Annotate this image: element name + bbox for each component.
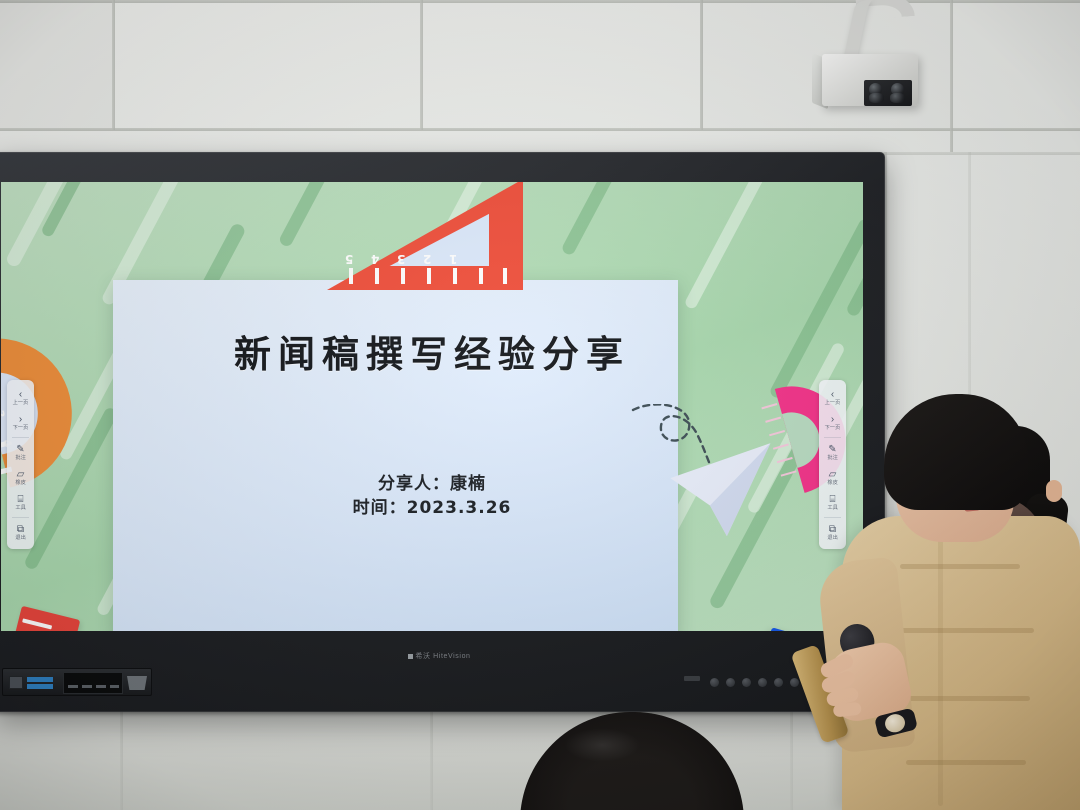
usb3-port-icon	[27, 684, 53, 689]
ops-slot	[63, 672, 123, 694]
io-port-panel[interactable]	[2, 668, 152, 696]
slide-date-line: 时间：2023.3.26	[1, 493, 863, 518]
usb-port-icon	[9, 676, 23, 689]
panel-seam	[950, 0, 953, 152]
sidebar-label: 上一页	[13, 400, 29, 407]
eraser-icon: ▱	[14, 469, 27, 480]
presentation-slide: 1 2 3 4 1 2 3 4	[1, 182, 863, 631]
sidebar-label: 工具	[15, 505, 25, 512]
usb3-port-icon	[27, 677, 53, 682]
camera-body	[822, 54, 918, 106]
sidebar-divider	[12, 517, 29, 518]
hair-top	[884, 394, 1028, 510]
orange-triangle-ruler-graphic: 5 4 3 2 1	[323, 182, 523, 290]
exit-icon: ⧉	[14, 524, 27, 535]
sidebar-label: 退出	[15, 535, 25, 542]
sidebar-item-prev-page[interactable]: ‹ 上一页	[7, 385, 34, 410]
sidebar-label: 橡皮	[15, 480, 25, 487]
ceiling-panel	[0, 0, 112, 128]
ceiling-camera-device	[812, 44, 918, 106]
camera-lens-icon	[890, 93, 905, 103]
sidebar-label: 下一页	[13, 425, 29, 432]
source-button[interactable]	[758, 678, 767, 687]
panel-seam	[420, 0, 423, 130]
wall-seam	[790, 712, 793, 810]
sidebar-label: 批注	[15, 455, 25, 462]
camera-lens-plate	[864, 80, 912, 106]
watch-face	[883, 712, 907, 734]
interactive-flat-panel[interactable]: 1 2 3 4 1 2 3 4	[0, 152, 885, 712]
blue-ruler-graphic: 1 2 3 7 8	[708, 627, 822, 631]
power-button[interactable]	[710, 678, 719, 687]
brand-logo-icon	[408, 654, 413, 659]
home-button[interactable]	[774, 678, 783, 687]
volume-down-button[interactable]	[726, 678, 735, 687]
ear	[1046, 480, 1062, 502]
board-brand-label: 希沃 HiteVision	[0, 651, 885, 661]
pen-icon: ✎	[14, 444, 27, 455]
hair-highlight	[564, 728, 640, 762]
hdmi-port-icon	[127, 676, 147, 690]
toolbox-icon: ⌸	[14, 494, 27, 505]
display-screen[interactable]: 1 2 3 4 1 2 3 4	[1, 182, 863, 631]
brand-text: 希沃 HiteVision	[415, 653, 470, 660]
slide-title: 新闻稿撰写经验分享	[1, 324, 863, 378]
red-ruler-graphic: 1 2 3 4 5 6	[1, 606, 80, 631]
chevron-right-icon: ›	[14, 414, 27, 425]
sidebar-item-annotate[interactable]: ✎ 批注	[7, 440, 34, 465]
presenter-person	[824, 398, 1080, 810]
volume-up-button[interactable]	[742, 678, 751, 687]
sidebar-item-tools[interactable]: ⌸ 工具	[7, 490, 34, 515]
menu-button[interactable]	[790, 678, 799, 687]
sidebar-divider	[12, 437, 29, 438]
chevron-left-icon: ‹	[14, 389, 27, 400]
camera-lens-icon	[869, 93, 884, 103]
wall-seam	[120, 712, 123, 810]
classroom-scene: 1 2 3 4 1 2 3 4	[0, 0, 1080, 810]
slide-presenter-line: 分享人：康楠	[1, 469, 863, 494]
panel-seam	[112, 0, 115, 130]
wall-seam	[430, 712, 433, 810]
seewo-sidebar-left[interactable]: ‹ 上一页 › 下一页 ✎ 批注 ▱ 橡皮	[7, 380, 34, 549]
sidebar-item-next-page[interactable]: › 下一页	[7, 410, 34, 435]
ceiling-seam	[0, 128, 1080, 131]
sidebar-item-exit[interactable]: ⧉ 退出	[7, 520, 34, 545]
sidebar-item-eraser[interactable]: ▱ 橡皮	[7, 465, 34, 490]
